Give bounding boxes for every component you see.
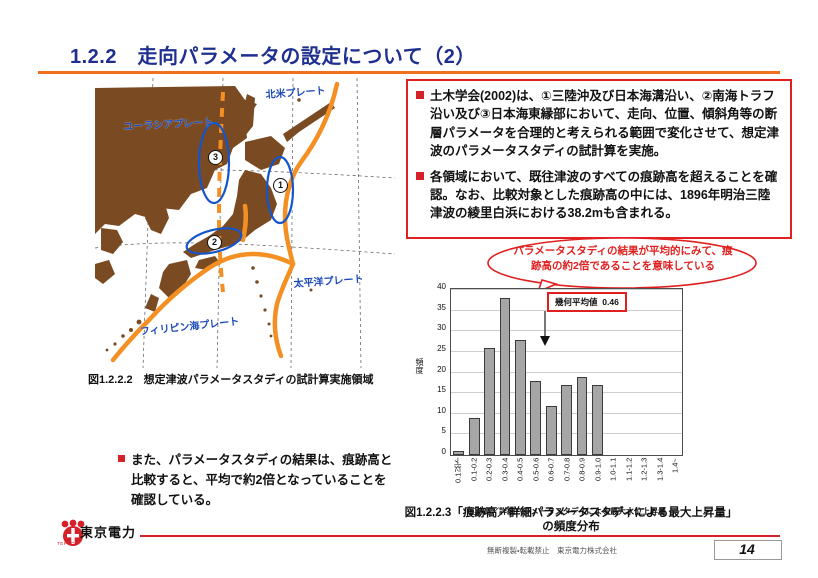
map-figure: ユーラシアプレート 北米プレート 太平洋プレート フィリピン海プレート 3 1 … <box>95 78 395 368</box>
chart-caption-line-2: の頻度分布 <box>396 520 746 534</box>
map-marker-1: 1 <box>273 178 288 193</box>
bottom-left-bullet: また、パラメータスタディの結果は、痕跡高と 比較すると、平均で約2倍となっている… <box>118 450 408 510</box>
bottom-bullet-line-3: 確認している。 <box>131 493 218 507</box>
bullet-square-icon <box>416 172 424 180</box>
red-callout: パラメータスタディの結果が平均的にみて、痕跡高の約2倍であることを意味している <box>486 236 758 292</box>
chart-y-tick: 10 <box>416 406 446 415</box>
chart-bar <box>561 385 572 455</box>
chart-figure-caption: 図1.2.2.3「痕跡高／詳細パラメータスタディによる最大上昇量」 の頻度分布 <box>396 506 746 535</box>
chart-x-tick: 0.1以下 <box>450 458 466 502</box>
chart-x-tick: 0.7-0.8 <box>559 458 575 502</box>
footer-logo-subtext: TEPCO <box>57 541 75 546</box>
chart-bar-cell <box>497 289 512 455</box>
chart-bar <box>577 377 588 455</box>
map-marker-2: 2 <box>207 235 222 250</box>
chart-bar-cell <box>513 289 528 455</box>
chart-y-tick: 20 <box>416 365 446 374</box>
chart-bar <box>500 298 511 455</box>
chart-y-tick: 40 <box>416 282 446 291</box>
redbox-item-1-text: 土木学会(2002)は、①三陸沖及び日本海溝沿い、②南海トラフ沿い及び③日本海東… <box>430 89 779 158</box>
chart-x-tick: 0.1-0.2 <box>466 458 482 502</box>
chart-caption-line-1: 図1.2.2.3「痕跡高／詳細パラメータスタディによる最大上昇量」 <box>396 506 746 520</box>
chart-x-tick: 1.2-1.3 <box>636 458 652 502</box>
chart-x-tick: 0.9-1.0 <box>590 458 606 502</box>
footer-copyright: 無断複製・転載禁止 東京電力株式会社 <box>487 545 617 556</box>
footer-divider <box>140 535 780 537</box>
chart-bar-cell <box>620 289 635 455</box>
chart-annotation-value: 0.46 <box>602 297 619 307</box>
bottom-bullet-line-2: 比較すると、平均で約2倍となっていることを <box>131 473 386 487</box>
chart-bar <box>592 385 603 455</box>
chart-y-tick: 0 <box>416 447 446 456</box>
chart-bar-cell <box>451 289 466 455</box>
chart-bar-cell <box>590 289 605 455</box>
histogram-chart: 頻度 0510152025303540 幾何平均値 0.46 0.1以下0.1-… <box>416 286 716 501</box>
chart-bar-cell <box>559 289 574 455</box>
map-marker-3: 3 <box>208 150 223 165</box>
chart-bar-cell <box>667 289 682 455</box>
bottom-bullet-line-1: また、パラメータスタディの結果は、痕跡高と <box>131 453 392 467</box>
chart-bar <box>546 406 557 456</box>
chart-y-tick: 30 <box>416 323 446 332</box>
chart-y-tick: 5 <box>416 426 446 435</box>
chart-x-tick: 1.0-1.1 <box>605 458 621 502</box>
chart-x-tick: 1.1-1.2 <box>621 458 637 502</box>
bullet-square-icon <box>118 455 125 462</box>
chart-bar <box>484 348 495 455</box>
chart-annotation-label: 幾何平均値 <box>555 297 598 307</box>
chart-bar-cell <box>636 289 651 455</box>
chart-x-ticks: 0.1以下0.1-0.20.2-0.30.3-0.40.4-0.50.5-0.6… <box>450 458 683 502</box>
chart-x-tick: 0.2-0.3 <box>481 458 497 502</box>
chart-y-tick: 35 <box>416 303 446 312</box>
chart-x-tick: 1.4~ <box>667 458 683 502</box>
map-figure-caption: 図1.2.2.2 想定津波パラメータスタディの試計算実施領域 <box>88 371 374 387</box>
chart-x-tick: 0.8-0.9 <box>574 458 590 502</box>
page-number: 14 <box>714 541 780 557</box>
chart-bar-cell <box>651 289 666 455</box>
chart-x-tick: 0.6-0.7 <box>543 458 559 502</box>
chart-bar-cell <box>605 289 620 455</box>
redbox-item-1: 土木学会(2002)は、①三陸沖及び日本海溝沿い、②南海トラフ沿い及び③日本海東… <box>416 87 782 161</box>
chart-plot-area: 幾何平均値 0.46 <box>450 288 683 456</box>
page-title: 1.2.2 走向パラメータの設定について（2） <box>70 40 476 69</box>
chart-annotation-box: 幾何平均値 0.46 <box>547 292 627 312</box>
redbox-item-2-text: 各領域において、既往津波のすべての痕跡高を超えることを確認。なお、比較対象とした… <box>430 170 777 221</box>
redbox-item-2: 各領域において、既往津波のすべての痕跡高を超えることを確認。なお、比較対象とした… <box>416 168 782 223</box>
slide-root: 1.2.2 走向パラメータの設定について（2） <box>0 0 818 578</box>
bullet-square-icon <box>416 91 424 99</box>
chart-x-tick: 0.3-0.4 <box>497 458 513 502</box>
title-divider <box>38 71 780 74</box>
chart-bar-cell <box>466 289 481 455</box>
chart-bar <box>469 418 480 455</box>
chart-y-tick: 25 <box>416 344 446 353</box>
red-text-box: 土木学会(2002)は、①三陸沖及び日本海溝沿い、②南海トラフ沿い及び③日本海東… <box>406 79 792 239</box>
chart-y-tick: 15 <box>416 385 446 394</box>
chart-bar <box>530 381 541 455</box>
chart-bars <box>451 289 682 455</box>
footer-company-name: 東京電力 <box>80 522 136 541</box>
chart-bar <box>453 451 464 455</box>
chart-x-tick: 0.5-0.6 <box>528 458 544 502</box>
chart-annotation-arrow-icon <box>538 311 552 347</box>
chart-bar-cell <box>482 289 497 455</box>
chart-bar-cell <box>574 289 589 455</box>
callout-text: パラメータスタディの結果が平均的にみて、痕跡高の約2倍であることを意味している <box>512 244 734 274</box>
chart-x-tick: 1.3-1.4 <box>652 458 668 502</box>
chart-x-tick: 0.4-0.5 <box>512 458 528 502</box>
chart-bar <box>515 340 526 456</box>
